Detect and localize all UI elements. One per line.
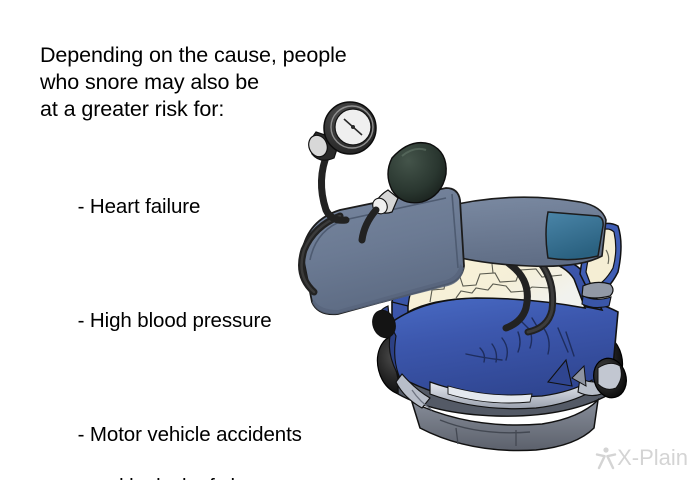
heading-text-block: Depending on the cause, people who snore…: [40, 42, 440, 123]
list-item-label: Heart failure: [90, 195, 200, 218]
risk-list: - Heart failure - High blood pressure - …: [44, 168, 404, 480]
x-plain-logo: X-Plain: [595, 446, 688, 470]
logo-text: X-Plain: [617, 447, 688, 469]
list-item: - High blood pressure: [44, 282, 404, 360]
right-side-mirror: [582, 282, 613, 298]
list-item-label: Motor vehicle accidents: [90, 423, 302, 446]
list-item-continuation: caused by lack of sleep: [44, 474, 404, 480]
heading-line-1: Depending on the cause, people: [40, 42, 440, 69]
list-item: - Motor vehicle accidents caused by lack…: [44, 396, 404, 480]
list-item-label: High blood pressure: [90, 309, 272, 332]
heading-line-3: at a greater risk for:: [40, 96, 440, 123]
heading-line-2: who snore may also be: [40, 69, 440, 96]
cuff-velcro-patch: [546, 212, 603, 260]
person-figure-icon: [595, 446, 617, 470]
slide-canvas: Depending on the cause, people who snore…: [0, 0, 700, 480]
list-item: - Heart failure: [44, 168, 404, 246]
